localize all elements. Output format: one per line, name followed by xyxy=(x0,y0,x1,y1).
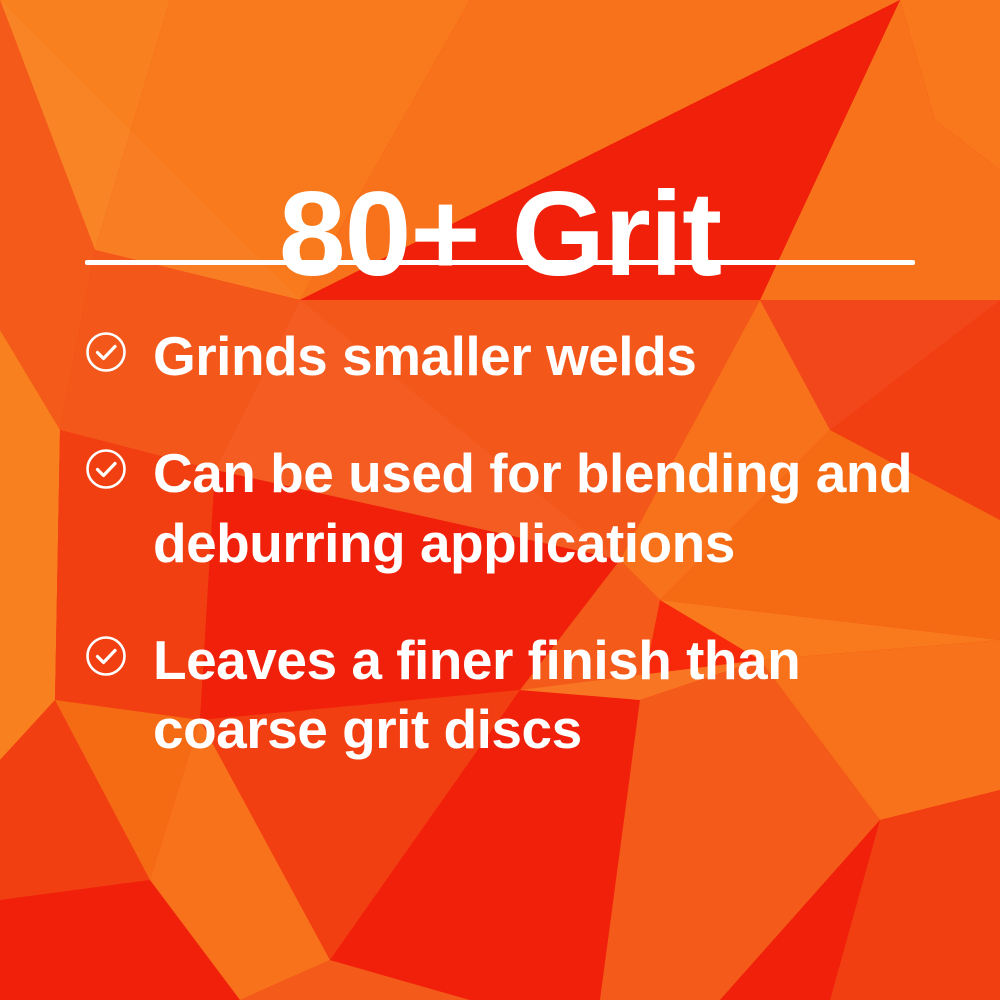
list-item: Grinds smaller welds xyxy=(85,322,945,391)
list-item-label: Leaves a finer finish than coarse grit d… xyxy=(153,626,945,765)
list-item: Leaves a finer finish than coarse grit d… xyxy=(85,626,945,765)
list-item: Can be used for blending and deburring a… xyxy=(85,439,945,578)
circle-check-icon xyxy=(85,331,127,373)
list-item-label: Grinds smaller welds xyxy=(153,322,696,391)
feature-list: Grinds smaller welds Can be used for ble… xyxy=(85,322,945,764)
circle-check-icon xyxy=(85,448,127,490)
page-title: 80+ Grit xyxy=(0,174,1000,294)
circle-check-icon xyxy=(85,635,127,677)
product-feature-card: 80+ Grit Grinds smaller welds xyxy=(0,0,1000,1000)
title-divider xyxy=(85,260,915,265)
list-item-label: Can be used for blending and deburring a… xyxy=(153,439,945,578)
